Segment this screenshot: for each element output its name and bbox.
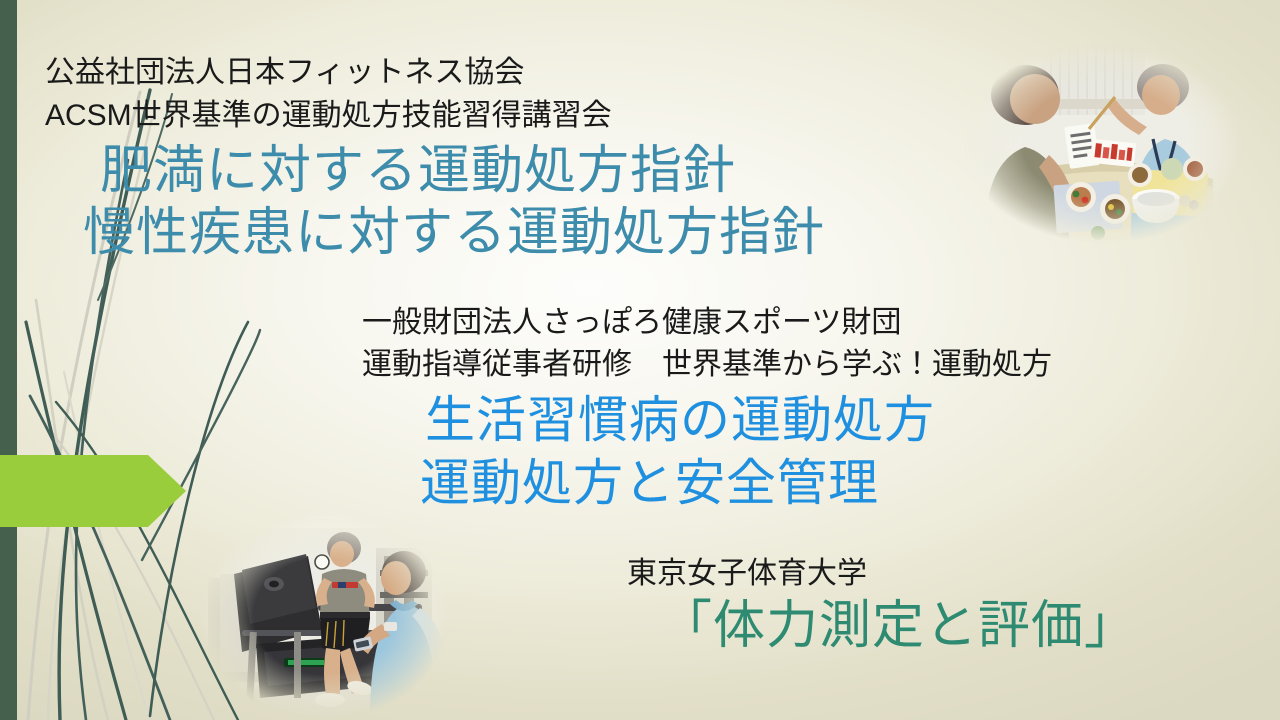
top-title-line-2: 慢性疾患に対する運動処方指針 xyxy=(83,207,825,259)
treadmill-exercise-test-photo xyxy=(198,512,450,720)
middle-org-line-1: 一般財団法人さっぽろ健康スポーツ財団 xyxy=(362,308,901,338)
left-accent-bar xyxy=(0,0,17,720)
green-arrow-shape xyxy=(0,455,186,527)
top-org-line-2: ACSM世界基準の運動処方技能習得講習会 xyxy=(45,101,612,131)
middle-title-line-2: 運動処方と安全管理 xyxy=(420,458,879,508)
bottom-org-line-1: 東京女子体育大学 xyxy=(627,559,867,589)
middle-org-line-2: 運動指導従事者研修 世界基準から学ぶ！運動処方 xyxy=(362,350,1052,380)
top-title-line-1: 肥満に対する運動処方指針 xyxy=(100,145,736,197)
bottom-title-line-1: 「体力測定と評価」 xyxy=(660,600,1137,652)
middle-title-line-1: 生活習慣病の運動処方 xyxy=(425,395,935,445)
title-slide: 公益社団法人日本フィットネス協会 ACSM世界基準の運動処方技能習得講習会 肥満… xyxy=(0,0,1280,720)
top-org-line-1: 公益社団法人日本フィットネス協会 xyxy=(45,58,524,88)
nutrition-counseling-photo xyxy=(963,43,1245,243)
